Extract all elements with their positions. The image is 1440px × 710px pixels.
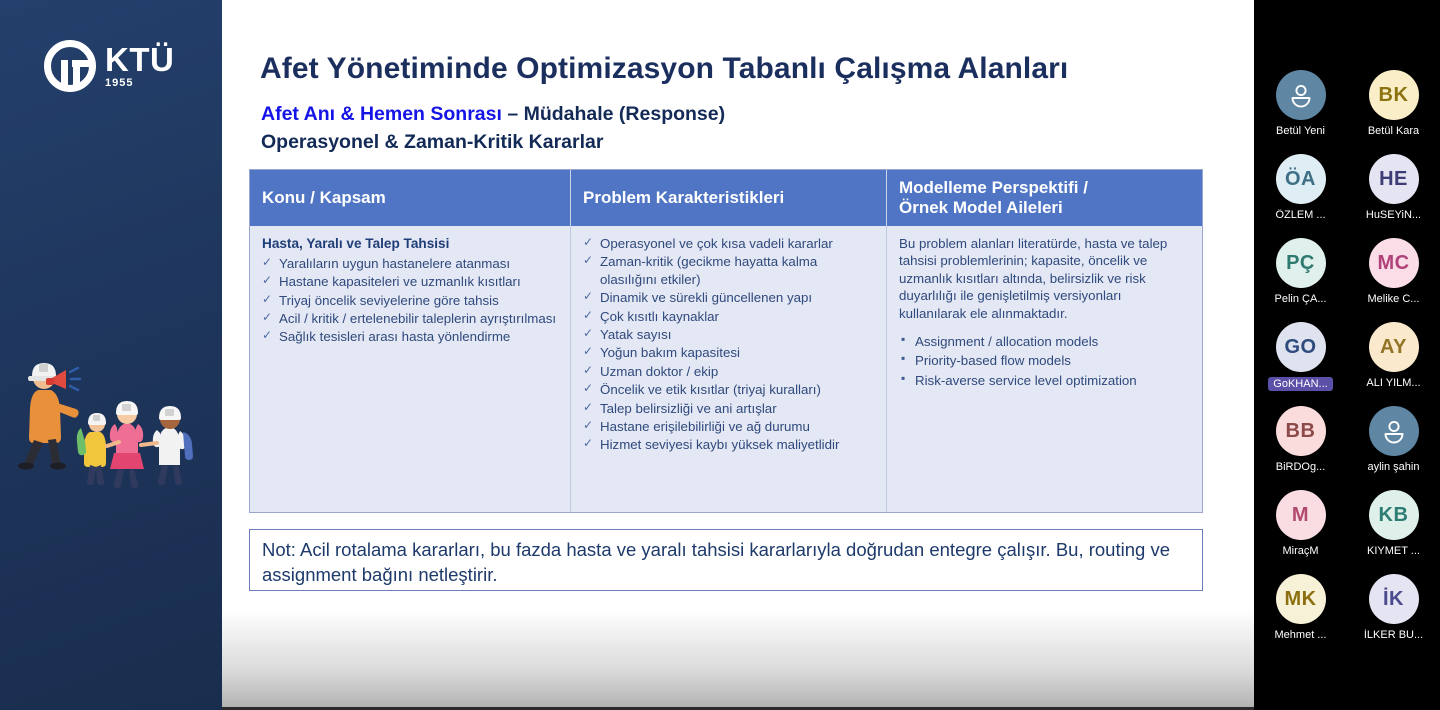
ktu-logo-mark (44, 40, 96, 92)
table-header-konu-kapsam: Konu / Kapsam (250, 170, 571, 226)
participants-panel[interactable]: Betül YeniBKBetül KaraÖAÖZLEM ...HEHuSEY… (1254, 0, 1440, 710)
col1-lead-text: Hasta, Yaralı ve Talep Tahsisi (262, 235, 559, 253)
table-header-col3-line1: Modelleme Perspektifi / (899, 178, 1190, 198)
participant-initials: MK (1276, 574, 1326, 624)
participant-tile[interactable]: BBBiRDOg... (1257, 406, 1345, 490)
presentation-slide: KTÜ 1955 (0, 0, 1254, 710)
participant-initials: ÖA (1276, 154, 1326, 204)
list-item: Acil / kritik / ertelenebilir taleplerin… (262, 310, 559, 327)
participant-tile[interactable]: MKMehmet ... (1257, 574, 1345, 658)
participant-initials: KB (1369, 490, 1419, 540)
participant-name: BiRDOg... (1276, 461, 1326, 473)
participant-tile[interactable]: KBKIYMET ... (1350, 490, 1438, 574)
participant-initials: HE (1369, 154, 1419, 204)
ktu-logo-year: 1955 (105, 78, 174, 89)
participant-tile[interactable]: BKBetül Kara (1350, 70, 1438, 154)
table-cell-modelleme-perspektifi: Bu problem alanları literatürde, hasta v… (887, 226, 1202, 512)
list-item: Hastane erişilebilirliği ve ağ durumu (583, 418, 875, 435)
list-item: Sağlık tesisleri arası hasta yönlendirme (262, 328, 559, 345)
col1-check-list: Yaralıların uygun hastanelere atanmasıHa… (262, 255, 559, 346)
list-item: Dinamik ve sürekli güncellenen yapı (583, 289, 875, 306)
slide-subtitle-line2: Operasyonel & Zaman-Kritik Kararlar (261, 131, 1211, 154)
participant-initials: AY (1369, 322, 1419, 372)
participant-tile[interactable]: ÖAÖZLEM ... (1257, 154, 1345, 238)
participant-initials: MC (1369, 238, 1419, 288)
table-header-row: Konu / Kapsam Problem Karakteristikleri … (250, 170, 1202, 226)
illustration-svg (8, 328, 220, 493)
logo-cross-bar (72, 60, 89, 67)
ktu-logo-label: KTÜ (105, 43, 174, 76)
col2-check-list: Operasyonel ve çok kısa vadeli kararlarZ… (583, 235, 875, 454)
participant-initials: GO (1276, 322, 1326, 372)
list-item: Hizmet seviyesi kaybı yüksek maliyetlidi… (583, 436, 875, 453)
slide-title: Afet Yönetiminde Optimizasyon Tabanlı Ça… (260, 52, 1210, 86)
participant-tile[interactable]: aylin şahin (1350, 406, 1438, 490)
table-body-row: Hasta, Yaralı ve Talep Tahsisi Yaralılar… (250, 226, 1202, 512)
participant-name: Betül Kara (1368, 125, 1419, 137)
participant-tile[interactable]: Betül Yeni (1257, 70, 1345, 154)
note-box: Not: Acil rotalama kararları, bu fazda h… (249, 529, 1203, 591)
list-item: Operasyonel ve çok kısa vadeli kararlar (583, 235, 875, 252)
table-header-col3-line2: Örnek Model Aileleri (899, 198, 1190, 218)
participant-name: Mehmet ... (1275, 629, 1327, 641)
participant-name: aylin şahin (1368, 461, 1420, 473)
list-item: Talep belirsizliği ve ani artışlar (583, 400, 875, 417)
ktu-logo-text: KTÜ 1955 (105, 43, 174, 89)
participant-name: MiraçM (1282, 545, 1318, 557)
participant-name: Melike C... (1368, 293, 1420, 305)
list-item: Assignment / allocation models (899, 333, 1191, 350)
participant-tile[interactable]: MMiraçM (1257, 490, 1345, 574)
content-table: Konu / Kapsam Problem Karakteristikleri … (249, 169, 1203, 513)
participant-name: ALI YILM... (1366, 377, 1420, 389)
participant-name: KIYMET ... (1367, 545, 1420, 557)
person-icon (1276, 70, 1326, 120)
subtitle-rest: – Müdahale (Response) (502, 103, 725, 125)
participant-name: Pelin ÇA... (1275, 293, 1327, 305)
list-item: Yaralıların uygun hastanelere atanması (262, 255, 559, 272)
list-item: Risk-averse service level optimization (899, 372, 1191, 389)
table-header-problem-karakteristikleri: Problem Karakteristikleri (571, 170, 887, 226)
participant-tile[interactable]: HEHuSEYiN... (1350, 154, 1438, 238)
participant-tile[interactable]: GOGoKHAN... (1257, 322, 1345, 406)
list-item: Uzman doktor / ekip (583, 363, 875, 380)
person-icon (1369, 406, 1419, 456)
participant-tile[interactable]: İKİLKER BU... (1350, 574, 1438, 658)
participant-initials: İK (1369, 574, 1419, 624)
participant-name: İLKER BU... (1364, 629, 1423, 641)
participant-tile[interactable]: MCMelike C... (1350, 238, 1438, 322)
list-item: Öncelik ve etik kısıtlar (triyaj kuralla… (583, 381, 875, 398)
meeting-screen: KTÜ 1955 (0, 0, 1440, 710)
table-cell-konu-kapsam: Hasta, Yaralı ve Talep Tahsisi Yaralılar… (250, 226, 571, 512)
table-cell-problem-karakteristikleri: Operasyonel ve çok kısa vadeli kararlarZ… (571, 226, 887, 512)
subtitle-highlight: Afet Anı & Hemen Sonrası (261, 103, 502, 125)
col3-model-list: Assignment / allocation modelsPriority-b… (899, 333, 1191, 389)
list-item: Çok kısıtlı kaynaklar (583, 308, 875, 325)
slide-bottom-gradient (222, 610, 1254, 710)
col3-paragraph: Bu problem alanları literatürde, hasta v… (899, 235, 1191, 322)
participant-tile[interactable]: AYALI YILM... (1350, 322, 1438, 406)
list-item: Priority-based flow models (899, 352, 1191, 369)
participant-initials: PÇ (1276, 238, 1326, 288)
participant-tile[interactable]: PÇPelin ÇA... (1257, 238, 1345, 322)
list-item: Hastane kapasiteleri ve uzmanlık kısıtla… (262, 273, 559, 290)
participant-initials: BB (1276, 406, 1326, 456)
slide-subtitle-line1: Afet Anı & Hemen Sonrası – Müdahale (Res… (261, 103, 1211, 126)
participant-name: GoKHAN... (1268, 377, 1332, 391)
participant-name: Betül Yeni (1276, 125, 1325, 137)
participant-initials: BK (1369, 70, 1419, 120)
evacuation-drill-illustration (8, 328, 220, 493)
participant-name: ÖZLEM ... (1275, 209, 1325, 221)
ktu-logo: KTÜ 1955 (44, 40, 174, 92)
participant-initials: M (1276, 490, 1326, 540)
participant-name: HuSEYiN... (1366, 209, 1421, 221)
logo-leg-left (61, 60, 68, 86)
list-item: Zaman-kritik (gecikme hayatta kalma olas… (583, 253, 875, 288)
list-item: Yatak sayısı (583, 326, 875, 343)
table-header-modelleme-perspektifi: Modelleme Perspektifi / Örnek Model Aile… (887, 170, 1202, 226)
list-item: Yoğun bakım kapasitesi (583, 344, 875, 361)
list-item: Triyaj öncelik seviyelerine göre tahsis (262, 292, 559, 309)
